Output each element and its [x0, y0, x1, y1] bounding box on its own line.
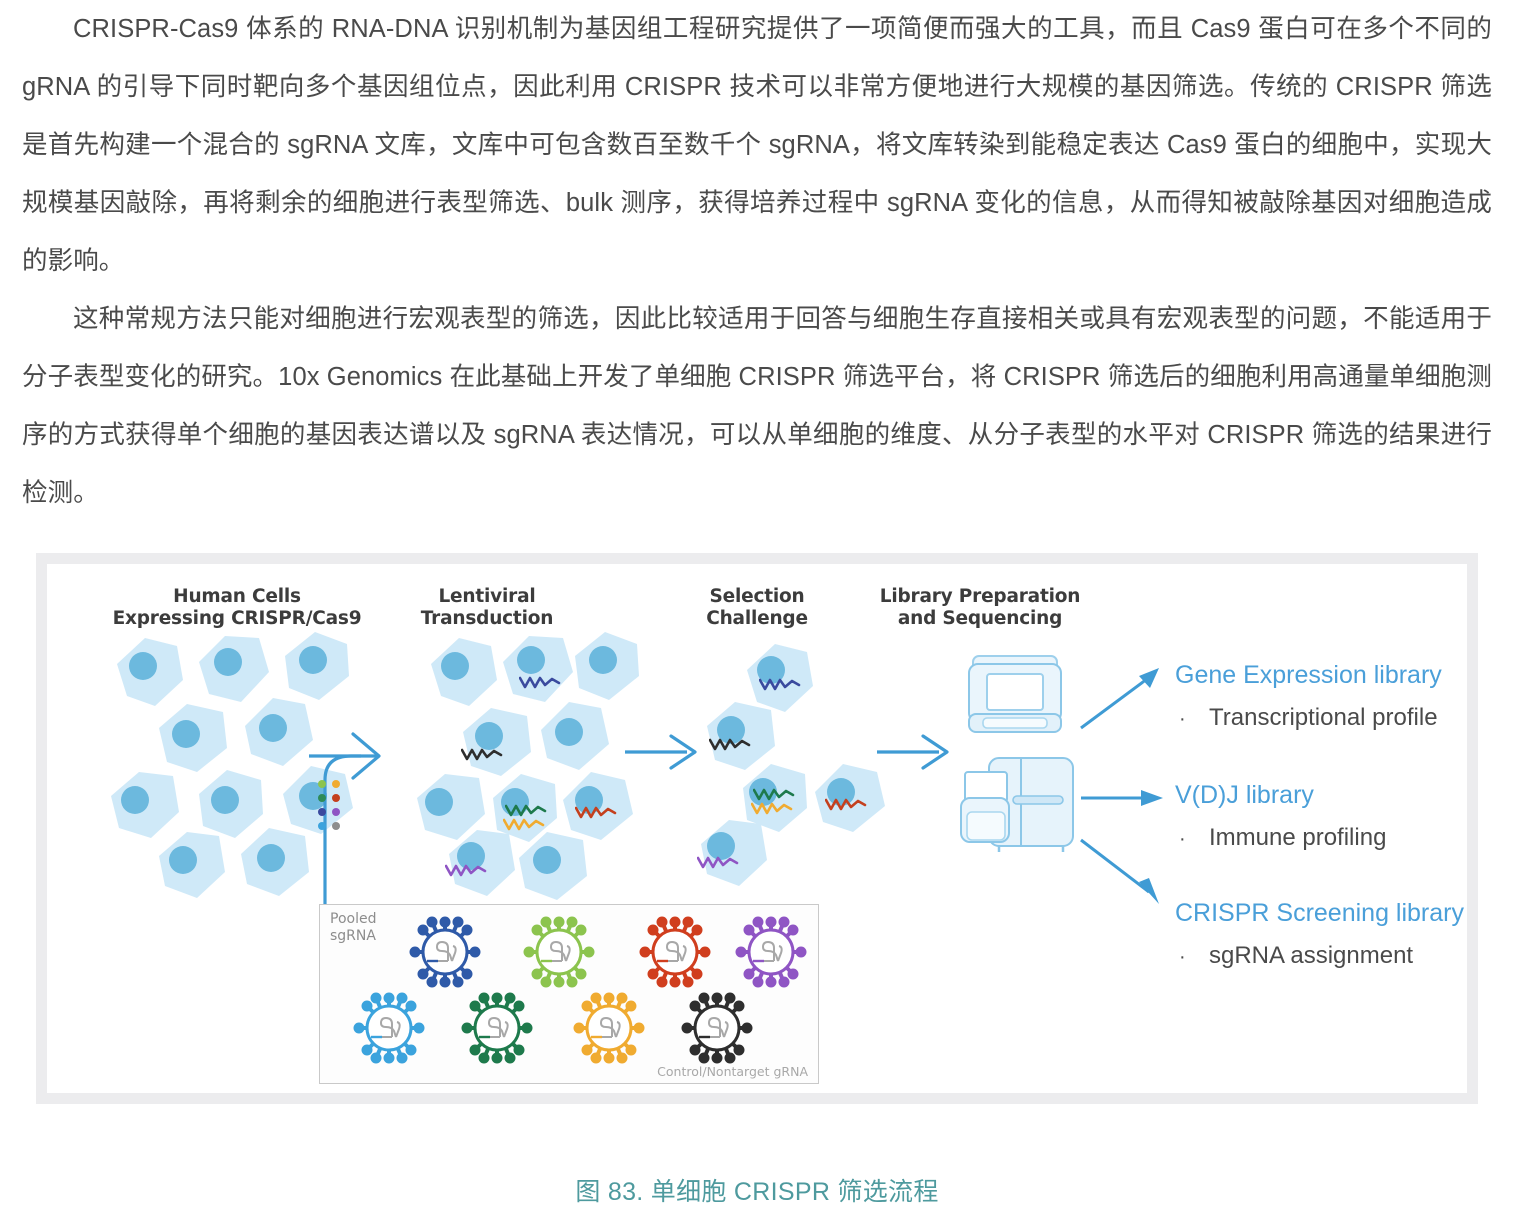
sgrna-squiggle [759, 676, 803, 691]
chromium-controller-icon [967, 652, 1063, 738]
library-bullet-label: sgRNA assignment [1209, 941, 1413, 971]
virion-icon-control-nontarget [680, 991, 754, 1065]
virion-icon [638, 915, 712, 989]
stage-title-selection-challenge: Selection Challenge [667, 586, 847, 630]
sgrna-squiggle [753, 786, 797, 801]
sgrna-squiggle [461, 746, 505, 761]
cell [111, 636, 187, 708]
paragraph-2: 这种常规方法只能对细胞进行宏观表型的筛选，因此比较适用于回答与细胞生存直接相关或… [22, 290, 1492, 522]
arrow-selection-to-library [877, 732, 951, 772]
library-bullet-item: · Transcriptional profile [1175, 703, 1442, 734]
library-title: V(D)J library [1175, 780, 1386, 810]
library-group-gene-expression: Gene Expression library · Transcriptiona… [1175, 660, 1442, 734]
sgrna-squiggle [575, 804, 619, 819]
sgrna-squiggle [445, 862, 489, 877]
virion-icon [460, 991, 534, 1065]
control-nontarget-label: Control/Nontarget gRNA [657, 1064, 808, 1079]
virion-icon [408, 915, 482, 989]
cell [153, 828, 229, 900]
document-body: CRISPR-Cas9 体系的 RNA-DNA 识别机制为基因组工程研究提供了一… [0, 0, 1514, 522]
figure-frame: Human Cells Expressing CRISPR/Cas9 Lenti… [36, 553, 1478, 1104]
sgrna-squiggle [505, 802, 549, 817]
sgrna-squiggle [519, 674, 563, 689]
library-bullet-item: · Immune profiling [1175, 823, 1386, 854]
arrow-library-to-crispr-screening [1077, 834, 1167, 910]
arrow-library-to-gene-expression [1077, 664, 1167, 734]
sgrna-squiggle [709, 736, 753, 751]
sgrna-squiggle [825, 796, 869, 811]
cell [279, 630, 355, 702]
library-bullet-label: Transcriptional profile [1209, 703, 1438, 733]
virion-icon [734, 915, 808, 989]
figure-canvas: Human Cells Expressing CRISPR/Cas9 Lenti… [47, 564, 1467, 1093]
arrow-pooled-to-lentiviral [309, 722, 419, 922]
bullet-marker-icon: · [1175, 824, 1209, 854]
arrow-lentiviral-to-selection [625, 732, 699, 772]
sequencer-icon [959, 754, 1077, 856]
cell [237, 826, 313, 898]
cell [195, 632, 271, 704]
pooled-sgrna-box: Pooled sgRNA Control/Nontarget gRNA [319, 904, 819, 1084]
cell [425, 636, 501, 708]
sgrna-squiggle [697, 854, 741, 869]
cell [459, 706, 535, 778]
figure-caption: 图 83. 单细胞 CRISPR 筛选流程 [0, 1172, 1514, 1208]
stage-title-lentiviral-transduction: Lentiviral Transduction [382, 586, 592, 630]
cell [239, 696, 315, 768]
library-title: Gene Expression library [1175, 660, 1442, 690]
virion-icon [572, 991, 646, 1065]
library-bullet-item: · sgRNA assignment [1175, 941, 1464, 972]
cell [499, 632, 575, 704]
pooled-sgrna-label: Pooled sgRNA [330, 911, 376, 945]
cell [515, 830, 591, 902]
cell [569, 630, 645, 702]
cell [155, 702, 231, 774]
stage-title-library-prep: Library Preparation and Sequencing [855, 586, 1105, 630]
bullet-marker-icon: · [1175, 942, 1209, 972]
library-bullet-label: Immune profiling [1209, 823, 1386, 853]
virion-icon [352, 991, 426, 1065]
stage-title-human-cells: Human Cells Expressing CRISPR/Cas9 [77, 586, 397, 630]
library-group-vdj: V(D)J library · Immune profiling [1175, 780, 1386, 854]
paragraph-1: CRISPR-Cas9 体系的 RNA-DNA 识别机制为基因组工程研究提供了一… [22, 0, 1492, 290]
cell [535, 700, 611, 772]
sgrna-squiggle [751, 800, 795, 815]
arrow-library-to-vdj [1077, 786, 1167, 810]
bullet-marker-icon: · [1175, 704, 1209, 734]
library-title: CRISPR Screening library [1175, 898, 1464, 928]
library-group-crispr-screening: CRISPR Screening library · sgRNA assignm… [1175, 898, 1464, 972]
virion-icon [522, 915, 596, 989]
sgrna-dot-cluster [318, 780, 340, 830]
cell [695, 816, 771, 888]
